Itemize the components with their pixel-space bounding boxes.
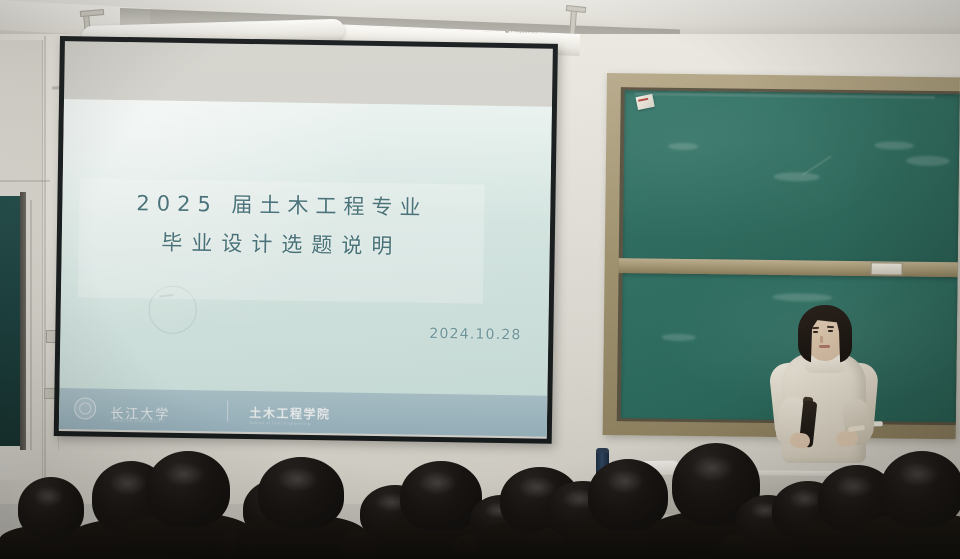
- presenter-eyebrow: [827, 326, 834, 328]
- brand-dot-icon: [505, 29, 509, 33]
- chalk-smudge: [662, 334, 696, 341]
- audience-head-highlight: [835, 475, 872, 498]
- projector-screen-fabric: 2025 届土木工程专业 毕业设计选题说明 2024.10.28 长江大学 YA…: [59, 41, 553, 439]
- presenter-eye: [813, 331, 818, 333]
- wall-trim: [0, 180, 50, 182]
- audience-head-highlight: [109, 471, 146, 495]
- audience-head-highlight: [691, 455, 733, 483]
- classroom-photo-scene: Projection 2025 届土木工程专业 毕业设计选题说明 2024.10…: [0, 0, 960, 559]
- audience-head-highlight: [164, 462, 204, 488]
- wall-rod: [30, 200, 32, 450]
- audience-head-highlight: [606, 469, 644, 493]
- roller-brand-text: Projection: [511, 28, 537, 35]
- blackboard-clip: [871, 262, 903, 275]
- projected-slide: 2025 届土木工程专业 毕业设计选题说明 2024.10.28 长江大学 YA…: [59, 99, 552, 437]
- slide-date: 2024.10.28: [429, 326, 521, 343]
- chalk-smudge: [906, 156, 950, 167]
- presenter-nose: [820, 336, 823, 343]
- audience-head-highlight: [277, 467, 318, 491]
- chalk-smudge: [668, 143, 698, 150]
- university-seal-icon: [74, 398, 96, 420]
- presenter-mouth: [819, 345, 830, 348]
- side-blackboard-frame: [20, 192, 26, 450]
- audience-head-highlight: [898, 462, 938, 488]
- chalk-smudge: [774, 172, 820, 182]
- footer-divider: [227, 400, 228, 421]
- projector-screen-frame: 2025 届土木工程专业 毕业设计选题说明 2024.10.28 长江大学 YA…: [54, 36, 558, 444]
- chalk-smudge: [874, 141, 914, 149]
- chalk-smudge: [772, 293, 832, 302]
- audience-head-highlight: [418, 471, 457, 495]
- wall-seam: [44, 36, 46, 481]
- slide-title-line-1: 2025 届土木工程专业: [62, 183, 502, 229]
- audience-head-highlight: [33, 486, 65, 507]
- slide-title: 2025 届土木工程专业 毕业设计选题说明: [61, 183, 501, 268]
- presenter-eye: [828, 330, 833, 332]
- slide-title-line-2: 毕业设计选题说明: [61, 222, 501, 268]
- blackboard-upper-panel: [623, 90, 960, 262]
- audience: [0, 420, 960, 559]
- chalk-stroke: [802, 155, 832, 175]
- chalk-stroke: [635, 92, 935, 99]
